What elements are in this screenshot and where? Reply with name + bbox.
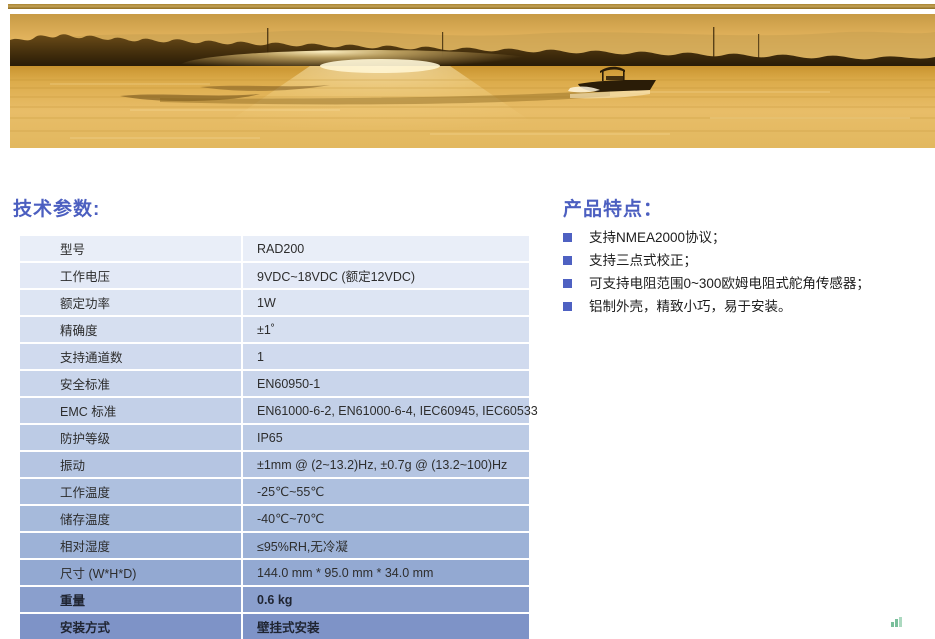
feature-item-label: 支持NMEA2000协议； (589, 228, 726, 247)
spec-row: 安全标准EN60950-1 (20, 371, 529, 398)
spec-key: 型号 (20, 236, 243, 263)
spec-row: 振动±1mm @ (2~13.2)Hz, ±0.7g @ (13.2~100)H… (20, 452, 529, 479)
top-gold-rule (8, 4, 935, 9)
spec-value: EN61000-6-2, EN61000-6-4, IEC60945, IEC6… (243, 398, 529, 425)
spec-value: 1W (243, 290, 529, 317)
spec-value: ≤95%RH,无冷凝 (243, 533, 529, 560)
feature-item: 支持三点式校正； (563, 251, 935, 274)
sunset-boat-photo (10, 14, 935, 148)
spec-row: 额定功率1W (20, 290, 529, 317)
spec-value: EN60950-1 (243, 371, 529, 398)
features-heading: 产品特点： (563, 194, 663, 221)
feature-item: 可支持电阻范围0~300欧姆电阻式舵角传感器； (563, 274, 935, 297)
spec-value: ±1mm @ (2~13.2)Hz, ±0.7g @ (13.2~100)Hz (243, 452, 529, 479)
spec-row: 工作电压9VDC~18VDC (额定12VDC) (20, 263, 529, 290)
feature-item-label: 铝制外壳，精致小巧，易于安装。 (589, 297, 792, 316)
spec-row: 相对湿度≤95%RH,无冷凝 (20, 533, 529, 560)
spec-key: 额定功率 (20, 290, 243, 317)
spec-key: 精确度 (20, 317, 243, 344)
spec-key: EMC 标准 (20, 398, 243, 425)
spec-value: 壁挂式安装 (243, 614, 529, 639)
spec-key: 安全标准 (20, 371, 243, 398)
spec-table: 型号RAD200工作电压9VDC~18VDC (额定12VDC)额定功率1W精确… (20, 236, 529, 639)
feature-item-label: 可支持电阻范围0~300欧姆电阻式舵角传感器； (589, 274, 870, 293)
spec-row: 重量0.6 kg (20, 587, 529, 614)
spec-row: 支持通道数1 (20, 344, 529, 371)
spec-value: RAD200 (243, 236, 529, 263)
spec-row: 安装方式壁挂式安装 (20, 614, 529, 639)
feature-item-label: 支持三点式校正； (589, 251, 697, 270)
feature-list: 支持NMEA2000协议；支持三点式校正；可支持电阻范围0~300欧姆电阻式舵角… (563, 228, 935, 320)
spec-key: 安装方式 (20, 614, 243, 639)
spec-value: ±1˚ (243, 317, 529, 344)
spec-key: 振动 (20, 452, 243, 479)
square-bullet-icon (563, 302, 572, 311)
spec-row: 防护等级IP65 (20, 425, 529, 452)
spec-value: -25℃~55℃ (243, 479, 529, 506)
corner-logo-fragment-icon (891, 617, 903, 627)
spec-value: 1 (243, 344, 529, 371)
spec-value: 0.6 kg (243, 587, 529, 614)
spec-key: 储存温度 (20, 506, 243, 533)
spec-row: EMC 标准EN61000-6-2, EN61000-6-4, IEC60945… (20, 398, 529, 425)
spec-key: 工作电压 (20, 263, 243, 290)
spec-key: 防护等级 (20, 425, 243, 452)
spec-key: 重量 (20, 587, 243, 614)
spec-value: 144.0 mm * 95.0 mm * 34.0 mm (243, 560, 529, 587)
sunset-boat-illustration (10, 14, 935, 148)
feature-item: 支持NMEA2000协议； (563, 228, 935, 251)
square-bullet-icon (563, 279, 572, 288)
spec-row: 储存温度-40℃~70℃ (20, 506, 529, 533)
feature-item: 铝制外壳，精致小巧，易于安装。 (563, 297, 935, 320)
spec-row: 型号RAD200 (20, 236, 529, 263)
spec-key: 支持通道数 (20, 344, 243, 371)
square-bullet-icon (563, 256, 572, 265)
spec-value: 9VDC~18VDC (额定12VDC) (243, 263, 529, 290)
spec-key: 尺寸 (W*H*D) (20, 560, 243, 587)
spec-row: 精确度±1˚ (20, 317, 529, 344)
specs-heading: 技术参数: (13, 194, 100, 221)
spec-key: 相对湿度 (20, 533, 243, 560)
spec-row: 工作温度-25℃~55℃ (20, 479, 529, 506)
square-bullet-icon (563, 233, 572, 242)
spec-row: 尺寸 (W*H*D)144.0 mm * 95.0 mm * 34.0 mm (20, 560, 529, 587)
spec-value: -40℃~70℃ (243, 506, 529, 533)
spec-key: 工作温度 (20, 479, 243, 506)
spec-value: IP65 (243, 425, 529, 452)
